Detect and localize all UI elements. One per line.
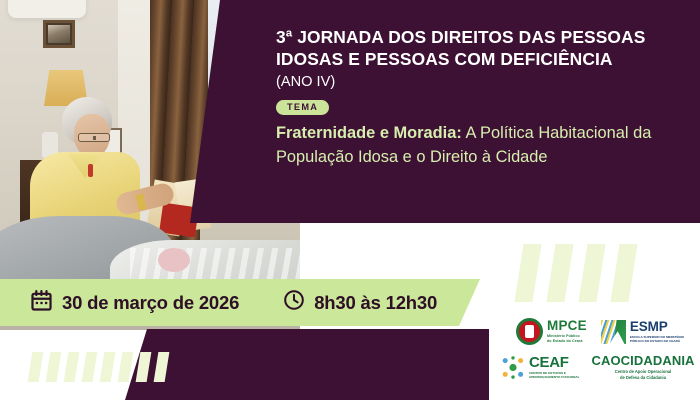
wall-picture-image: [48, 25, 70, 43]
esmp-mark-icon: [601, 320, 626, 344]
caocidadania-acronym: CAOCIDADANIA: [591, 354, 694, 367]
esmp-line-2: PÚBLICO DO ESTADO DO CEARÁ: [630, 339, 684, 343]
bed-blanket: [158, 248, 190, 272]
esmp-acronym: ESMP: [630, 320, 684, 334]
woman-glasses: [78, 133, 110, 142]
esmp-text: ESMP ESCOLA SUPERIOR DO MINISTÉRIO PÚBLI…: [630, 320, 684, 343]
event-date: 30 de março de 2026: [62, 292, 239, 314]
ceaf-acronym: CEAF: [529, 355, 579, 370]
decor-stripe: [610, 244, 637, 302]
decor-stripe: [546, 244, 573, 302]
clock-icon: [283, 289, 305, 316]
event-edition: (ANO IV): [276, 73, 686, 92]
decor-stripe: [578, 244, 605, 302]
decor-stripes-right: [519, 244, 633, 302]
ceaf-line-2: APERFEIÇOAMENTO FUNCIONAL: [529, 375, 579, 379]
mpce-acronym: MPCE: [547, 319, 587, 333]
ceaf-mark-icon: [501, 356, 525, 379]
logo-esmp: ESMP ESCOLA SUPERIOR DO MINISTÉRIO PÚBLI…: [601, 320, 684, 344]
event-title: 3ª JORNADA DOS DIREITOS DAS PESSOAS IDOS…: [276, 26, 686, 71]
woman-necklace: [88, 164, 93, 177]
mpce-text: MPCE Ministério Público do Estado do Cea…: [547, 319, 587, 343]
logo-caocidadania: CAOCIDADANIA Centro de Apoio Operacional…: [591, 354, 694, 380]
info-bar-content: 30 de março de 2026 8h30 às 12h30: [30, 279, 437, 326]
mpce-line-2: do Estado do Ceará: [547, 339, 587, 344]
decor-stripe: [64, 352, 80, 382]
decor-stripe: [118, 352, 134, 382]
ceaf-text: CEAF CENTRO DE ESTUDOS E APERFEIÇOAMENTO…: [529, 355, 579, 380]
bottom-purple-strip: [125, 329, 489, 400]
decor-stripe: [82, 352, 98, 382]
caocidadania-text: CAOCIDADANIA Centro de Apoio Operacional…: [591, 354, 694, 380]
decor-stripe: [514, 244, 541, 302]
logo-ceaf: CEAF CENTRO DE ESTUDOS E APERFEIÇOAMENTO…: [501, 355, 579, 380]
caocidadania-line-2: de Defesa da Cidadania: [591, 375, 694, 381]
event-theme: Fraternidade e Moradia: A Política Habit…: [276, 122, 686, 169]
event-title-line-2: IDOSAS E PESSOAS COM DEFICIÊNCIA: [276, 48, 686, 70]
event-poster: 3ª JORNADA DOS DIREITOS DAS PESSOAS IDOS…: [0, 0, 700, 400]
logo-row-bottom: CEAF CENTRO DE ESTUDOS E APERFEIÇOAMENTO…: [501, 354, 697, 380]
header-text-block: 3ª JORNADA DOS DIREITOS DAS PESSOAS IDOS…: [276, 26, 686, 169]
calendar-icon: [30, 289, 53, 317]
decor-stripe: [100, 352, 116, 382]
decor-stripe: [46, 352, 62, 382]
logo-row-top: MPCE Ministério Público do Estado do Cea…: [516, 318, 697, 345]
event-theme-highlight: Fraternidade e Moradia:: [276, 124, 462, 142]
event-title-line-1: 3ª JORNADA DOS DIREITOS DAS PESSOAS: [276, 26, 686, 48]
time-item: 8h30 às 12h30: [283, 289, 437, 316]
logo-area: MPCE Ministério Público do Estado do Cea…: [497, 318, 697, 398]
decor-stripe: [136, 352, 152, 382]
ceiling-lampshade: [8, 0, 86, 18]
logo-mpce: MPCE Ministério Público do Estado do Cea…: [516, 318, 587, 345]
decor-stripe: [28, 352, 44, 382]
mpce-seal-icon: [516, 318, 543, 345]
date-item: 30 de março de 2026: [30, 289, 239, 317]
tema-badge: TEMA: [276, 100, 329, 115]
event-time: 8h30 às 12h30: [314, 292, 437, 314]
decor-stripes-left: [30, 352, 167, 382]
wall-picture-frame: [43, 20, 75, 48]
